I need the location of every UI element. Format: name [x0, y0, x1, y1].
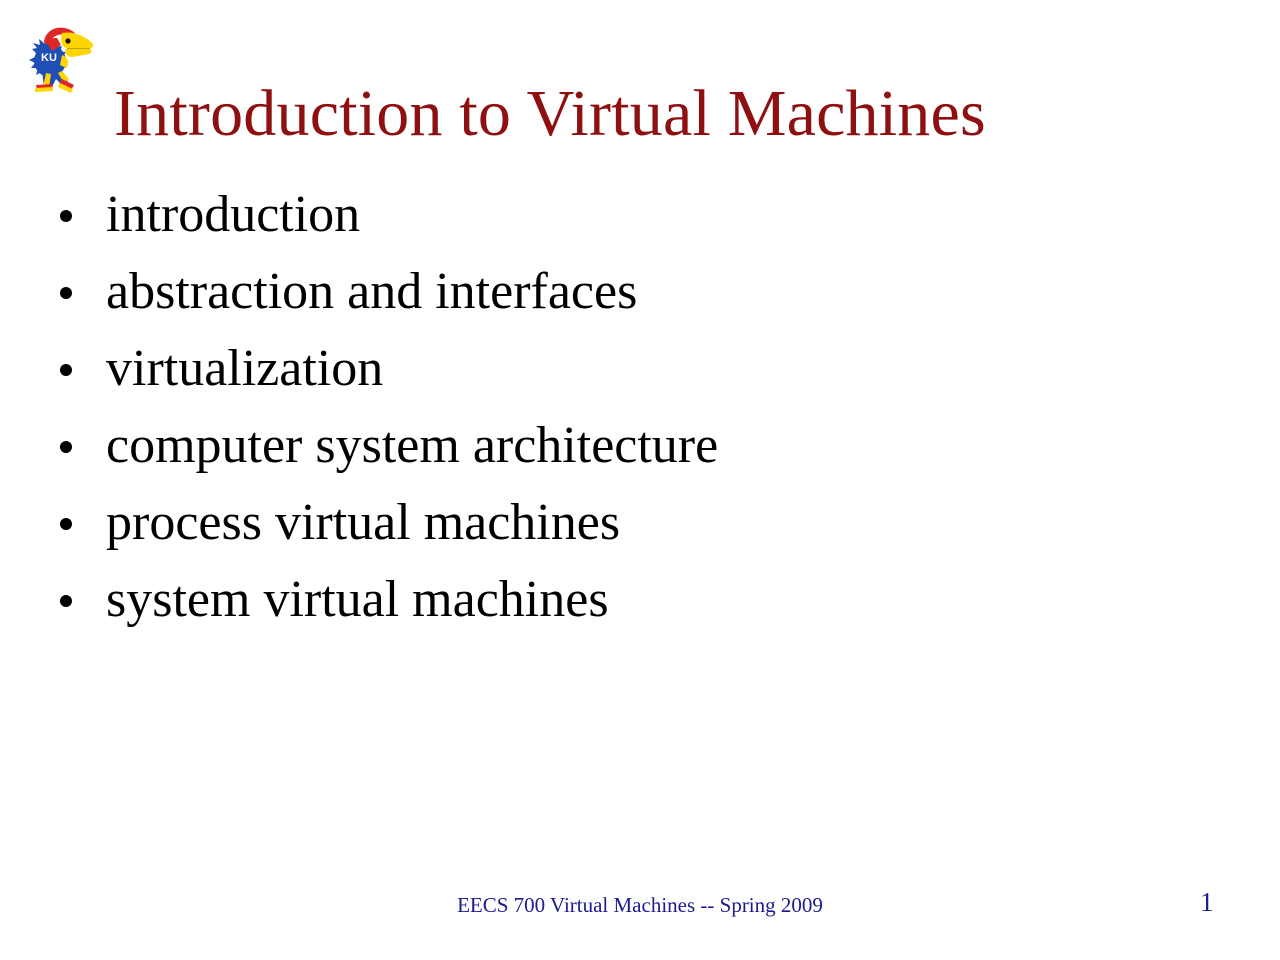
bullet-item-label: virtualization: [106, 340, 383, 397]
bullet-item-label: process virtual machines: [106, 494, 620, 551]
slide-footer: EECS 700 Virtual Machines -- Spring 2009…: [0, 893, 1280, 933]
bullet-list: introduction abstraction and interfaces …: [48, 176, 1228, 638]
slide-title: Introduction to Virtual Machines: [114, 64, 1264, 164]
bullet-point-icon: [60, 287, 72, 299]
bullet-item: introduction: [48, 176, 1228, 253]
bullet-point-icon: [60, 595, 72, 607]
bullet-item: system virtual machines: [48, 561, 1228, 638]
bullet-item-label: computer system architecture: [106, 417, 718, 474]
bullet-point-icon: [60, 364, 72, 376]
bullet-point-icon: [60, 210, 72, 222]
bullet-item: virtualization: [48, 330, 1228, 407]
bullet-item-label: system virtual machines: [106, 571, 609, 628]
bullet-point-icon: [60, 518, 72, 530]
slide-page-number: 1: [1200, 887, 1240, 918]
svg-text:KU: KU: [41, 52, 57, 64]
footer-course-label: EECS 700 Virtual Machines -- Spring 2009: [0, 893, 1280, 918]
bullet-item-label: introduction: [106, 186, 360, 243]
presentation-slide: KU Introduction to Virtual Machines intr…: [0, 0, 1280, 960]
bullet-item: process virtual machines: [48, 484, 1228, 561]
bullet-point-icon: [60, 441, 72, 453]
bullet-item-label: abstraction and interfaces: [106, 263, 637, 320]
bullet-item: abstraction and interfaces: [48, 253, 1228, 330]
bullet-item: computer system architecture: [48, 407, 1228, 484]
ku-jayhawk-logo-icon: KU: [22, 21, 98, 99]
slide-header: KU Introduction to Virtual Machines: [0, 0, 1280, 130]
